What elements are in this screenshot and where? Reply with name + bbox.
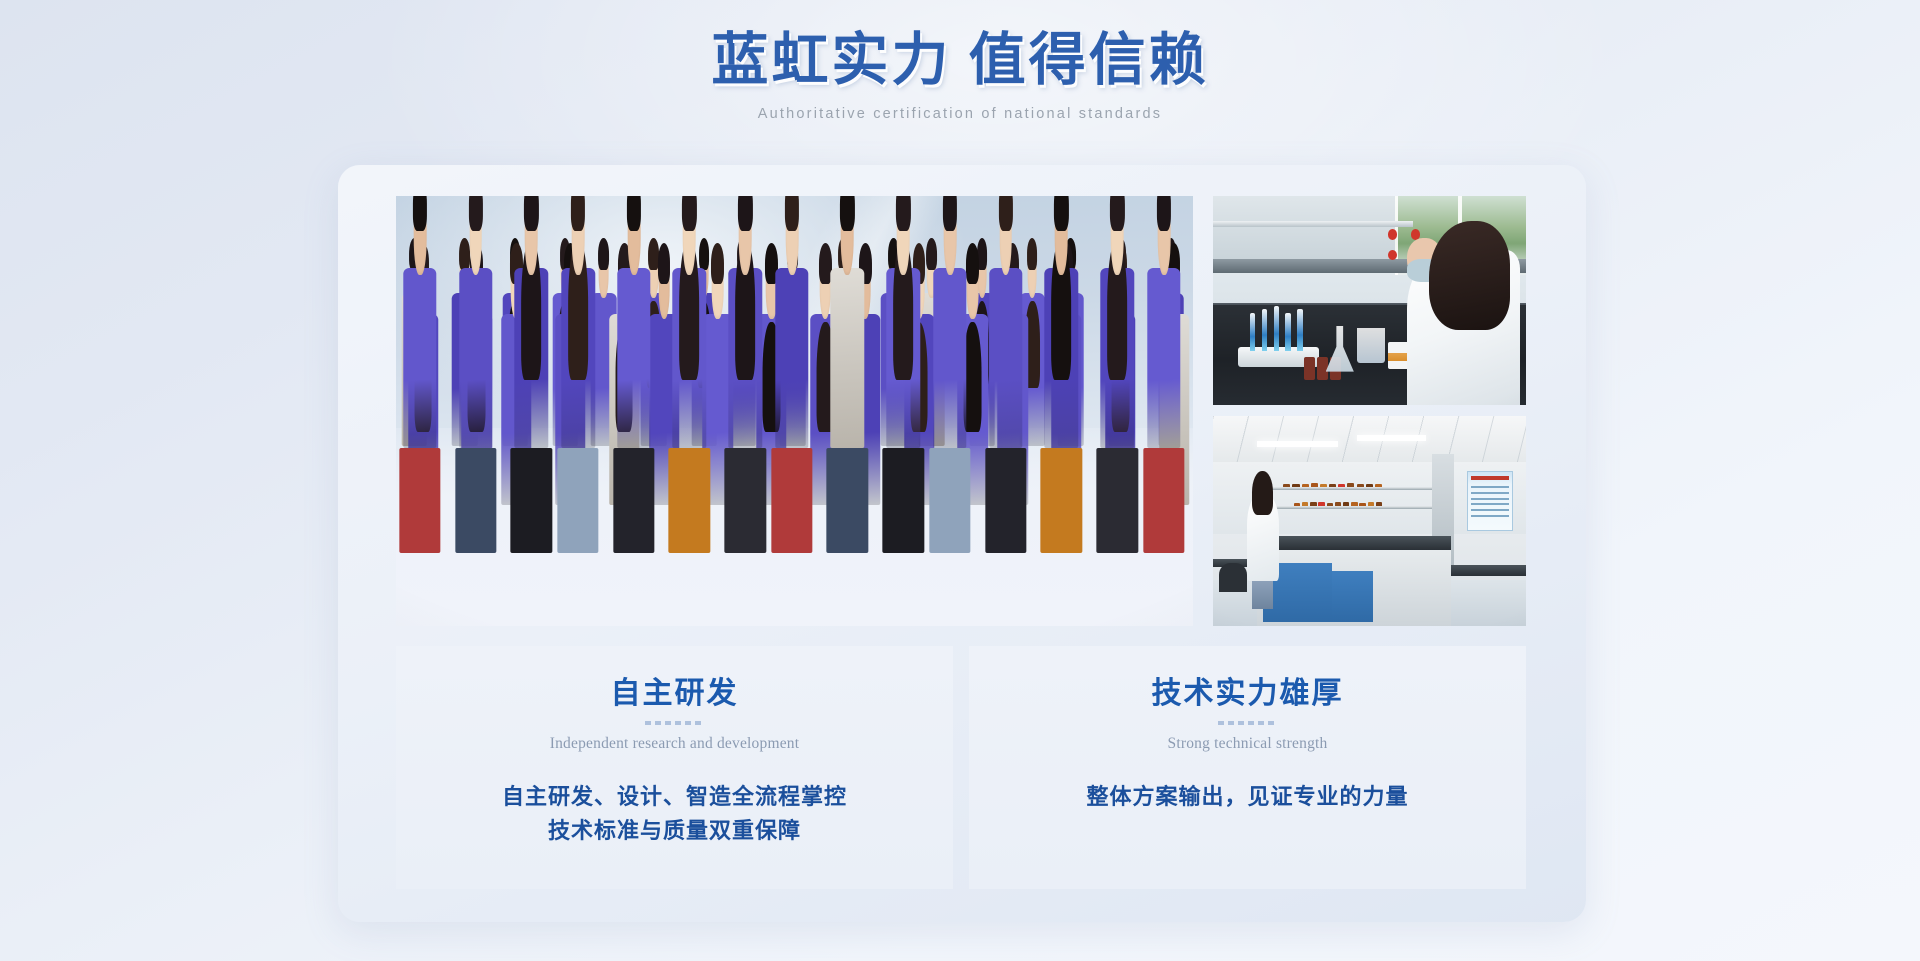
lab-b-poster-line (1471, 503, 1509, 505)
lab-b-reagent-bottle (1357, 484, 1364, 487)
lab-a-back-wall (1213, 196, 1395, 267)
team-member-hair (998, 196, 1012, 231)
lab-a-pipette (1262, 309, 1267, 350)
team-member-uniform (459, 268, 493, 447)
content-panel: 自主研发 Independent research and developmen… (338, 165, 1586, 922)
team-member-hair (1110, 196, 1124, 231)
team-member-hair (682, 196, 696, 231)
lab-b-reagent-bottle (1327, 503, 1333, 506)
lab-a-pipette (1250, 313, 1255, 351)
feature-card-description: 自主研发、设计、智造全流程掌控 技术标准与质量双重保障 (396, 780, 953, 848)
feature-cards: 自主研发 Independent research and developmen… (396, 646, 1526, 889)
lab-a-pipette (1297, 309, 1302, 350)
lab-b-reagent-bottle (1338, 484, 1345, 488)
lab-a-technician-hair (1429, 221, 1510, 330)
feature-card-technical[interactable]: 技术实力雄厚 Strong technical strength 整体方案输出，… (969, 646, 1526, 889)
feature-card-subtitle: Strong technical strength (969, 735, 1526, 753)
lab-a-reagent-bottle (1304, 357, 1315, 380)
team-member-legs (557, 448, 599, 553)
photo-gallery (396, 196, 1526, 626)
lab-a-reagent-bottle (1317, 357, 1328, 380)
page-subtitle: Authoritative certification of national … (0, 106, 1920, 122)
lab-b-poster-line (1471, 486, 1509, 488)
lab-a-shelf (1213, 221, 1413, 227)
lab-a-beaker (1357, 328, 1385, 364)
lab-b-reagent-bottle (1351, 502, 1357, 506)
team-member-hair (627, 196, 641, 231)
team-member-hair (785, 196, 799, 231)
lab-b-reagent-bottle (1310, 502, 1316, 506)
lab-b-poster-line (1471, 515, 1509, 517)
feature-card-desc-line1: 自主研发、设计、智造全流程掌控 (502, 784, 847, 809)
lab-b-reagent-bottle (1302, 502, 1308, 505)
team-member-uniform (831, 268, 865, 447)
team-member-hair (840, 196, 854, 231)
lab-b-island-top (1257, 536, 1451, 551)
team-member-legs (399, 448, 441, 553)
lab-photo-room (1213, 416, 1526, 626)
lab-b-reagent-bottle (1302, 484, 1309, 488)
lab-b-shelf-board (1269, 487, 1444, 490)
lab-b-reagent-bottle (1292, 484, 1299, 487)
section-header: 蓝虹实力 值得信赖 Authoritative certification of… (0, 26, 1920, 122)
lab-b-reagent-bottle (1311, 483, 1318, 487)
lab-b-reagent-bottle (1320, 484, 1327, 487)
team-photo (396, 196, 1193, 626)
lab-b-reagent-row (1294, 502, 1385, 506)
lab-b-reagent-bottle (1368, 502, 1374, 505)
team-member-uniform (403, 268, 437, 447)
feature-card-divider (645, 721, 705, 725)
lab-b-technician (1247, 471, 1278, 610)
feature-card-desc-line2: 技术标准与质量双重保障 (396, 814, 953, 848)
team-member-uniform (933, 268, 967, 447)
team-member-hair (896, 196, 910, 231)
feature-card-subtitle: Independent research and development (396, 735, 953, 753)
lab-b-reagent-bottle (1376, 502, 1382, 506)
team-member-legs (985, 448, 1027, 553)
team-member-hair (468, 196, 482, 231)
team-member-uniform (989, 268, 1023, 447)
lab-b-reagent-bottle (1359, 503, 1365, 506)
lab-b-reagent-bottle (1318, 502, 1324, 506)
lab-a-pipettes (1247, 305, 1306, 351)
lab-b-reagent-bottle (1366, 484, 1373, 487)
feature-card-divider (1218, 721, 1278, 725)
team-member-hair (571, 196, 585, 231)
lab-b-stool (1219, 563, 1247, 592)
lab-b-reagent-bottle (1335, 502, 1341, 505)
feature-card-desc-line1: 整体方案输出，见证专业的力量 (1086, 784, 1408, 809)
feature-card-title: 自主研发 (396, 677, 953, 710)
lab-b-reagent-bottle (1343, 502, 1349, 506)
team-member-legs (1041, 448, 1083, 553)
lab-photo-pipetting (1213, 196, 1526, 405)
team-member-hair (1157, 196, 1171, 231)
lab-b-reagent-bottle (1283, 484, 1290, 487)
team-member-legs (669, 448, 711, 553)
team-member (1128, 244, 1193, 553)
feature-card-description: 整体方案输出，见证专业的力量 (969, 780, 1526, 814)
team-member-hair (738, 196, 752, 231)
lab-b-technician-jeans (1252, 579, 1273, 609)
lab-a-pipette (1274, 306, 1279, 351)
team-member-legs (1143, 448, 1185, 553)
lab-a-clamp-knob (1388, 229, 1397, 239)
team-member-legs (827, 448, 869, 553)
team-member-hair (413, 196, 427, 231)
lab-b-technician-hair (1252, 471, 1273, 515)
lab-b-reagent-bottle (1347, 483, 1354, 487)
lab-b-side-bench (1451, 565, 1526, 576)
team-member-legs (771, 448, 813, 553)
lab-b-reagent-shelves (1269, 479, 1444, 525)
team-member-legs (929, 448, 971, 553)
feature-card-title: 技术实力雄厚 (969, 677, 1526, 710)
lab-b-poster-header (1471, 476, 1509, 481)
lab-b-poster-line (1471, 498, 1509, 500)
lab-b-reagent-bottle (1375, 484, 1382, 488)
team-member-uniform (617, 268, 651, 447)
lab-b-reagent-bottle (1294, 503, 1300, 506)
page-title: 蓝虹实力 值得信赖 (0, 26, 1920, 96)
lab-b-reagent-bottle (1329, 484, 1336, 487)
team-member-hair (524, 196, 538, 231)
lab-b-ceiling-light (1357, 435, 1426, 441)
lab-b-reagent-row (1283, 483, 1385, 487)
lab-b-poster-line (1471, 492, 1509, 494)
team-member-uniform (1147, 268, 1181, 447)
feature-card-rnd[interactable]: 自主研发 Independent research and developmen… (396, 646, 953, 889)
lab-a-clamp-knob (1388, 250, 1397, 260)
lab-b-safety-poster (1467, 471, 1514, 532)
team-member-hair (1054, 196, 1068, 231)
team-member-legs (455, 448, 497, 553)
lab-b-poster-line (1471, 509, 1509, 511)
lab-b-cabinet-blue (1332, 571, 1373, 621)
team-member-legs (613, 448, 655, 553)
lab-a-pipette (1285, 313, 1290, 351)
lab-b-shelf-board (1269, 506, 1444, 509)
team-photo-people (396, 286, 1193, 553)
team-member-hair (943, 196, 957, 231)
lab-b-ceiling-light (1257, 441, 1338, 447)
team-member-uniform (775, 268, 809, 447)
